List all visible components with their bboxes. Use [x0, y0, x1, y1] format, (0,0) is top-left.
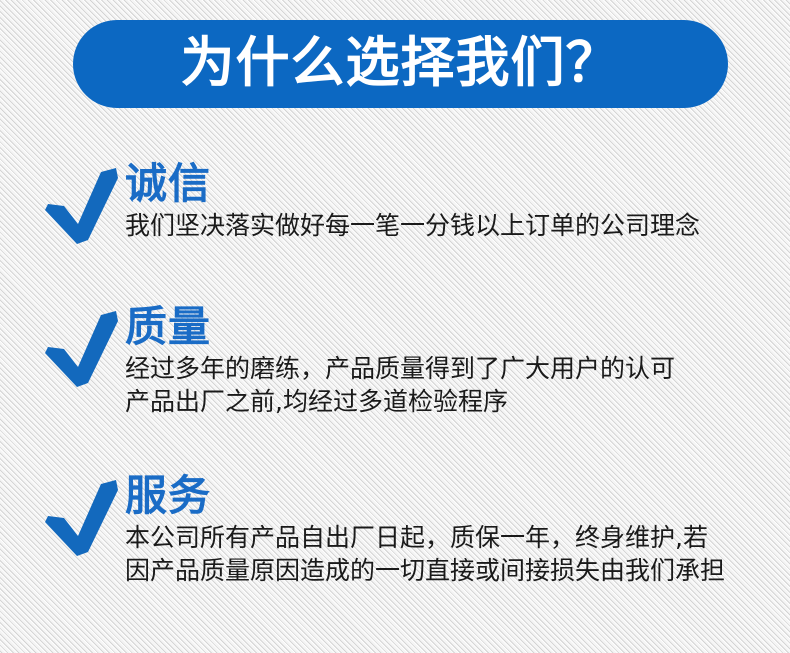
- feature-text-cell: 质量 经过多年的磨练，产品质量得到了广大用户的认可 产品出厂之前,均经过多道检验…: [125, 303, 790, 418]
- feature-icon-cell: [0, 303, 125, 391]
- check-mark-icon: [44, 166, 120, 248]
- header-banner: 为什么选择我们？: [73, 20, 728, 108]
- page-title: 为什么选择我们？: [181, 36, 621, 93]
- feature-title: 质量: [125, 305, 790, 350]
- feature-description: 我们坚决落实做好每一笔一分钱以上订单的公司理念: [125, 209, 790, 242]
- feature-item-integrity: 诚信 我们坚决落实做好每一笔一分钱以上订单的公司理念: [0, 160, 790, 248]
- feature-description-line: 经过多年的磨练，产品质量得到了广大用户的认可: [125, 352, 790, 385]
- feature-title: 诚信: [125, 162, 790, 207]
- feature-description-line: 我们坚决落实做好每一笔一分钱以上订单的公司理念: [125, 209, 790, 242]
- feature-description-line: 本公司所有产品自出厂日起，质保一年，终身维护,若: [125, 521, 790, 554]
- feature-description-line: 因产品质量原因造成的一切直接或间接损失由我们承担: [125, 554, 790, 587]
- promo-page: 为什么选择我们？ 诚信 我们坚决落实做好每一笔一分钱以上订单的公司理念: [0, 0, 790, 653]
- feature-icon-cell: [0, 160, 125, 248]
- feature-description: 经过多年的磨练，产品质量得到了广大用户的认可 产品出厂之前,均经过多道检验程序: [125, 352, 790, 418]
- feature-text-cell: 服务 本公司所有产品自出厂日起，质保一年，终身维护,若 因产品质量原因造成的一切…: [125, 472, 790, 587]
- feature-item-quality: 质量 经过多年的磨练，产品质量得到了广大用户的认可 产品出厂之前,均经过多道检验…: [0, 303, 790, 418]
- feature-description-line: 产品出厂之前,均经过多道检验程序: [125, 385, 790, 418]
- check-mark-icon: [44, 478, 120, 560]
- feature-text-cell: 诚信 我们坚决落实做好每一笔一分钱以上订单的公司理念: [125, 160, 790, 242]
- feature-title: 服务: [125, 474, 790, 519]
- check-mark-icon: [44, 309, 120, 391]
- feature-item-service: 服务 本公司所有产品自出厂日起，质保一年，终身维护,若 因产品质量原因造成的一切…: [0, 472, 790, 587]
- header-banner-pill: 为什么选择我们？: [73, 20, 728, 108]
- feature-description: 本公司所有产品自出厂日起，质保一年，终身维护,若 因产品质量原因造成的一切直接或…: [125, 521, 790, 587]
- feature-icon-cell: [0, 472, 125, 560]
